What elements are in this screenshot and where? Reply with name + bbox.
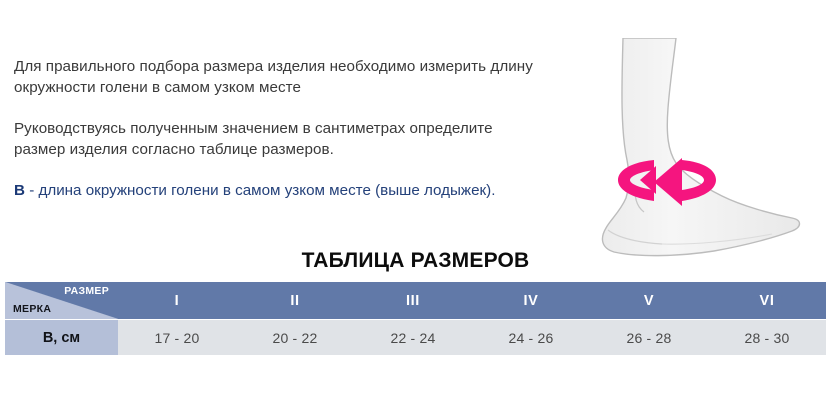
leg-measurement-illustration: B [596,38,831,268]
leg-ankle-measurement-icon [596,38,831,268]
row-label-b-cm: В, см [5,320,118,355]
cell-size-4: 24 - 26 [472,320,590,355]
size-chart-page: Для правильного подбора размера изделия … [0,0,831,415]
cell-size-1: 17 - 20 [118,320,236,355]
instruction-paragraph-1: Для правильного подбора размера изделия … [14,56,534,98]
measurement-definition: В - длина окружности голени в самом узко… [14,180,534,201]
column-header-2: II [236,282,354,319]
instructions-block: Для правильного подбора размера изделия … [14,56,534,201]
cell-size-6: 28 - 30 [708,320,826,355]
table-row: В, см 17 - 20 20 - 22 22 - 24 24 - 26 26… [5,320,826,355]
cell-size-2: 20 - 22 [236,320,354,355]
leg-foot-shape [602,38,799,256]
column-header-4: IV [472,282,590,319]
size-table: РАЗМЕР МЕРКА I II III IV V VI В, см 17 -… [5,282,826,355]
table-corner-cell: РАЗМЕР МЕРКА [5,282,118,319]
column-header-6: VI [708,282,826,319]
measurement-definition-text: - длина окружности голени в самом узком … [25,182,496,199]
instruction-paragraph-2: Руководствуясь полученным значением в са… [14,118,534,160]
table-title: ТАБЛИЦА РАЗМЕРОВ [0,249,831,273]
cell-size-3: 22 - 24 [354,320,472,355]
column-header-3: III [354,282,472,319]
corner-measure-label: МЕРКА [13,303,51,315]
cell-size-5: 26 - 28 [590,320,708,355]
column-header-5: V [590,282,708,319]
table-header-row: РАЗМЕР МЕРКА I II III IV V VI [5,282,826,319]
measurement-letter: В [14,182,25,199]
corner-size-label: РАЗМЕР [64,285,109,297]
column-header-1: I [118,282,236,319]
